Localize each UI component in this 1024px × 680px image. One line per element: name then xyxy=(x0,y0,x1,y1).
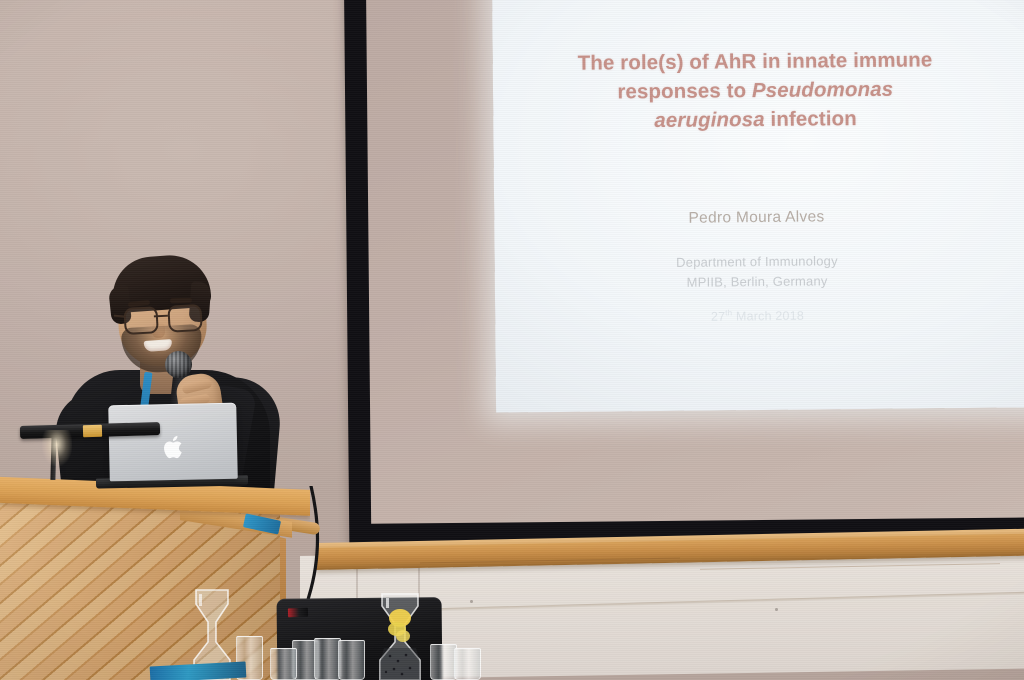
drinking-glass xyxy=(270,648,297,680)
apple-logo-icon xyxy=(162,434,184,460)
lamp-end-cap xyxy=(83,425,102,438)
presentation-photo-scene: The role(s) of AhR in innate immune resp… xyxy=(0,0,1024,680)
eyeglass-bridge xyxy=(154,315,168,318)
drinking-glass xyxy=(454,648,481,680)
chair-brand-logo xyxy=(288,608,308,618)
drinking-glass xyxy=(338,640,365,680)
eyeglasses xyxy=(123,304,200,332)
microphone-head xyxy=(165,351,192,378)
wooden-lectern xyxy=(0,476,310,680)
presenter-eyebrow xyxy=(170,298,192,304)
eyeglass-lens-left xyxy=(123,306,158,335)
drinking-glass xyxy=(430,644,457,680)
drinking-glass xyxy=(314,638,341,680)
eyeglass-lens-right xyxy=(167,304,202,333)
